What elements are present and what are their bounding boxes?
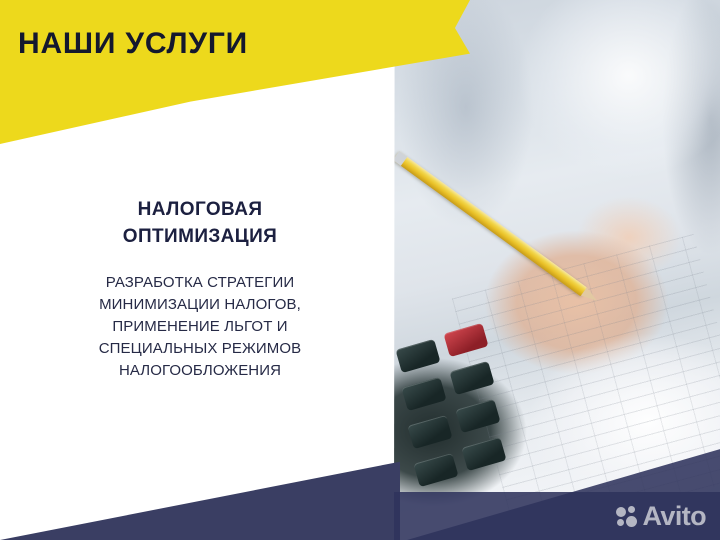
poster-canvas: НАШИ УСЛУГИ Avito НАЛОГОВАЯ ОПТИМИЗАЦИЯ … <box>0 0 720 540</box>
calculator-key <box>461 437 506 471</box>
service-headline-line-2: ОПТИМИЗАЦИЯ <box>123 226 277 247</box>
service-description: РАЗРАБОТКА СТРАТЕГИИ МИНИМИЗАЦИИ НАЛОГОВ… <box>20 272 380 382</box>
calculator-key <box>401 377 446 411</box>
service-headline: НАЛОГОВАЯ ОПТИМИЗАЦИЯ <box>20 196 380 250</box>
service-description-line: РАЗРАБОТКА СТРАТЕГИИ <box>20 272 380 294</box>
accountant-photo <box>394 0 720 540</box>
calculator-key <box>413 453 458 487</box>
service-description-line: ПРИМЕНЕНИЕ ЛЬГОТ И <box>20 316 380 338</box>
banner-title: НАШИ УСЛУГИ <box>18 27 248 61</box>
avito-watermark: Avito <box>616 503 707 530</box>
calculator-keypad <box>394 326 564 516</box>
avito-wordmark: Avito <box>643 503 707 530</box>
service-description-line: СПЕЦИАЛЬНЫХ РЕЖИМОВ <box>20 338 380 360</box>
calculator-key <box>407 415 452 449</box>
navy-wedge-bottom-left <box>0 450 400 540</box>
calculator-key <box>395 339 440 373</box>
service-headline-line-1: НАЛОГОВАЯ <box>138 199 263 220</box>
service-description-line: НАЛОГООБЛОЖЕНИЯ <box>20 360 380 382</box>
avito-logo-icon <box>616 506 638 528</box>
calculator-key <box>449 361 494 395</box>
service-text-block: НАЛОГОВАЯ ОПТИМИЗАЦИЯ РАЗРАБОТКА СТРАТЕГ… <box>20 196 380 382</box>
calculator-key <box>443 323 488 357</box>
calculator-key <box>455 399 500 433</box>
service-description-line: МИНИМИЗАЦИИ НАЛОГОВ, <box>20 294 380 316</box>
